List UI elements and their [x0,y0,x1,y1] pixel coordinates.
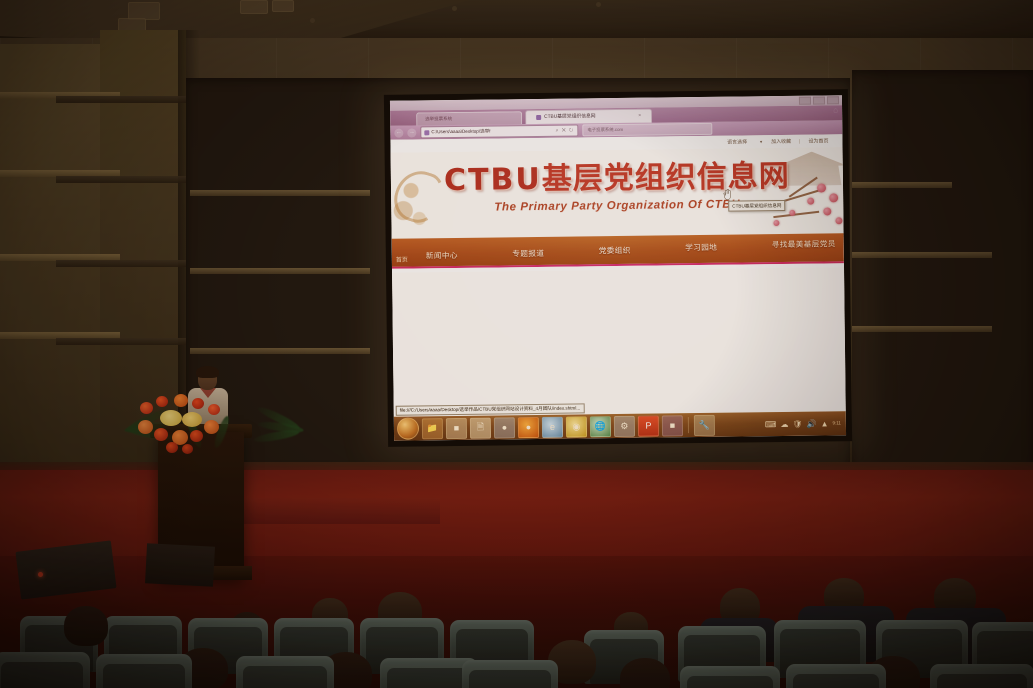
page-header: CTBU基层党组织信息网 The Primary Party Organizat… [391,147,844,239]
url-input[interactable]: C:\Users\aaaa\Desktop\选举f ⌕ ✕ ↻ [420,124,578,138]
blossom-icon [773,220,779,226]
disc-icon[interactable]: ◉ [566,416,587,437]
set-homepage-link[interactable]: 设为首页 [808,137,828,144]
secondary-url-input[interactable]: 电子投票系统.com [582,123,712,137]
flower-lily-yellow [182,412,202,427]
browser-tab-inactive[interactable]: 选举投票系统 [416,111,522,125]
webpage-content: 语言选择 ▼ 加入收藏 | 设为首页 [390,134,845,417]
url-tools-icons[interactable]: ⌕ ✕ ↻ [556,128,575,134]
audience-seat-front [462,660,558,688]
nav-item-news[interactable]: 新闻中心 [426,249,458,260]
wing-decoration-left [398,267,582,272]
stage-equipment-case [145,543,215,587]
shield-icon[interactable]: 🛡 [792,419,802,428]
audience-seat-front [0,652,90,688]
hero-subtitle: 中国梦是我们的，更是我们这一代的 [398,267,838,272]
taskbar-separator [688,417,689,433]
flower-arrangement [126,386,258,466]
system-tray: ⌨ ☁ 🛡 🔊 ▲ 9:11 [765,419,843,429]
cloud-icon[interactable]: ☁ [780,419,788,428]
back-arrow-icon[interactable]: ← [394,128,403,137]
link-tooltip: CTBU基层党组织信息网 [728,200,785,212]
audience-seat-front [930,664,1033,688]
page-title-latin: CTBU [444,162,542,198]
wall-trim-strip [56,260,186,267]
nav-item-party-committee[interactable]: 党委组织 [599,244,631,255]
radial-rays-decoration [398,267,838,272]
monitor-power-led [38,572,43,577]
flower-red [192,398,204,409]
flower-red [166,442,178,453]
volume-icon[interactable]: 🔊 [807,419,817,428]
nav-item-study[interactable]: 学习园地 [685,241,717,252]
recess-trim-strip [852,182,952,188]
browser-tab-label: CTBU基层党组织信息网 [544,110,596,124]
page-title-cjk: 基层党组织信息网 [542,159,790,197]
recess-trim-strip [852,252,992,258]
browser-window: 选举投票系统 CTBU基层党组织信息网 × ⌂ ← → C:\Users\aaa… [390,95,846,440]
add-favorite-link[interactable]: 加入收藏 [771,138,791,145]
recess-trim-strip [190,268,370,274]
minimize-button[interactable] [799,97,811,105]
auditorium-scene: 选举投票系统 CTBU基层党组织信息网 × ⌂ ← → C:\Users\aaa… [0,0,1033,688]
flower-red [140,402,153,414]
wall-recess-panel-right [852,70,1033,470]
tool-icon[interactable]: 🔧 [694,414,715,435]
window-icon[interactable]: ■ [446,417,467,438]
recess-trim-strip [852,326,992,332]
flower-red [154,428,168,441]
projection-screen-frame: 选举投票系统 CTBU基层党组织信息网 × ⌂ ← → C:\Users\aaa… [384,89,852,447]
seat-cushion [793,674,879,688]
taskbar-clock[interactable]: 9:11 [832,421,840,426]
flower-lily-yellow [160,410,182,426]
chevron-down-icon: ▼ [759,139,763,144]
branch-twig [773,211,819,218]
ie-icon[interactable]: e [542,416,563,437]
windows-taskbar: 📁 ■ 🗎 ● ● e ◉ 🌐 ⚙ P ■ 🔧 ⌨ ☁ [394,411,846,441]
close-button[interactable] [827,96,839,104]
audience-seat-front [786,664,886,688]
powerpoint-icon[interactable]: P [638,415,659,436]
audience-seat-front [96,654,192,688]
utility-separator: | [799,138,800,144]
wall-trim-strip [56,338,186,345]
projection-screen: 选举投票系统 CTBU基层党组织信息网 × ⌂ ← → C:\Users\aaa… [390,95,846,440]
page-favicon-icon [424,130,429,135]
ceiling-downlight [596,2,601,7]
network-icon[interactable]: ▲ [821,419,829,428]
ceiling-light-fixture [240,0,268,14]
url-value: C:\Users\aaaa\Desktop\选举f [431,129,490,136]
recess-trim-strip [190,190,370,196]
language-selector[interactable]: 语言选择 ▼ [727,138,763,145]
audience-head-front [64,606,108,646]
tab-favicon-icon [536,115,541,120]
wall-trim-strip [56,96,186,103]
explorer-icon[interactable]: 🗎 [470,417,491,438]
nav-item-features[interactable]: 专题报道 [512,247,544,258]
audience-seat-front [680,666,780,688]
flower-red [208,404,220,415]
browser-tab-active[interactable]: CTBU基层党组织信息网 × [525,109,652,125]
presenter-hair [196,366,219,378]
seat-cushion [1,662,84,688]
wall-trim-strip [56,176,186,183]
ceiling-light-fixture [272,0,294,12]
hand-cursor-icon [722,189,732,201]
flower-orange [174,394,188,407]
media-player-icon[interactable]: ● [494,417,515,438]
seat-cushion [103,664,186,688]
ceiling-downlight [310,18,315,23]
language-label: 语言选择 [727,138,747,145]
flower-orange [138,420,153,434]
photoshop-icon[interactable]: ■ [662,415,683,436]
hero-horizon-glow [398,267,838,272]
seat-cushion [937,674,1026,688]
folder-icon[interactable]: 📁 [422,418,443,439]
page-title: CTBU基层党组织信息网 [391,161,843,197]
recess-trim-strip [190,348,370,354]
seat-cushion [469,670,552,688]
flower-orange [204,420,219,434]
ceiling-downlight [452,6,457,11]
globe-icon[interactable]: 🌐 [590,416,611,437]
flower-red [156,396,168,407]
flower-red [190,430,203,442]
seat-cushion [687,676,773,688]
input-method-icon[interactable]: ⌨ [765,420,777,429]
nav-item-home[interactable]: 首页 [396,255,408,264]
hero-banner[interactable]: 中国梦 青春梦 中国梦是我们的，更是我们这一代的 [398,267,838,272]
maximize-button[interactable] [813,96,825,104]
seat-cushion [387,668,471,688]
seat-cushion [243,666,327,688]
home-icon[interactable]: ⌂ [833,106,838,114]
start-button-icon[interactable] [397,417,419,439]
blossom-icon [835,217,842,224]
nav-items-list: 新闻中心 专题报道 党委组织 学习园地 寻找最美基层党员 [392,242,844,259]
app-icon[interactable]: ⚙ [614,415,635,436]
nav-item-best-members[interactable]: 寻找最美基层党员 [772,238,836,250]
wing-decoration-right [654,267,838,272]
blossom-icon [789,210,795,216]
firefox-icon[interactable]: ● [518,416,539,437]
hero-title: 中国梦 青春梦 [398,267,838,272]
forward-arrow-icon[interactable]: → [407,128,416,137]
flower-red [182,444,193,454]
close-icon[interactable]: × [638,110,641,123]
audience-seat-front [236,656,334,688]
